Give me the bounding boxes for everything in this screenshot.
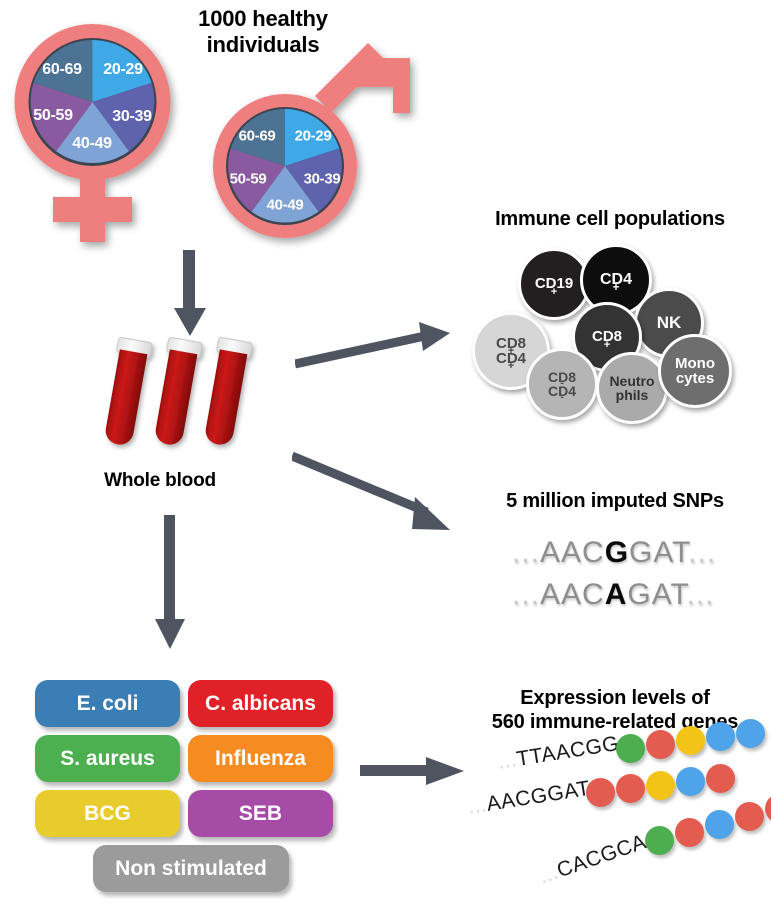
immune-cell-label-line-2: phils — [616, 388, 649, 402]
immune-cell-label-line-1: CD8- — [548, 370, 576, 384]
snp-title: 5 million imputed SNPs — [470, 490, 760, 514]
gene-bead — [645, 826, 674, 855]
stimulus-box-c-albicans[interactable]: C. albicans — [188, 680, 333, 727]
gene-bead — [586, 778, 615, 807]
snp-prefix: ... — [512, 578, 540, 611]
immune-cell-label-line-1: Neutro — [609, 374, 654, 388]
stimulus-box-bcg[interactable]: BCG — [35, 790, 180, 837]
immune-cell-label-line-2: CD4- — [548, 384, 576, 398]
gene-bead — [735, 802, 764, 831]
immune-cell-label: NK — [657, 314, 682, 331]
stimulus-label: C. albicans — [205, 692, 316, 716]
snp-left: AAC — [540, 536, 605, 569]
arrow-blood-to-immune-cells — [295, 320, 460, 380]
gene-bead — [706, 722, 735, 751]
immune-cell-cluster: CD8+ CD4+ CD19+ CD4+ NK CD8+ CD8- CD4- N… — [460, 240, 760, 420]
gene-bead — [616, 774, 645, 803]
immune-cell-label-line-2: cytes — [676, 371, 714, 386]
snp-suffix: ... — [687, 578, 715, 611]
stimulus-box-non-stimulated[interactable]: Non stimulated — [93, 845, 289, 892]
stimulus-box-e-coli[interactable]: E. coli — [35, 680, 180, 727]
female-age-pie — [31, 40, 155, 163]
immune-cell-label: CD8+ — [592, 329, 622, 344]
snp-right: GAT — [627, 578, 686, 611]
gene-bead — [646, 771, 675, 800]
stimulus-label: E. coli — [77, 692, 139, 716]
female-gender-symbol: 20-29 30-39 40-49 50-59 60-69 — [8, 12, 198, 252]
stimulus-label: SEB — [239, 802, 282, 826]
gene-bead — [706, 764, 735, 793]
gene-bead — [736, 719, 765, 748]
figure-canvas: 1000 healthy individuals — [0, 0, 771, 922]
snp-variant-base: A — [605, 578, 628, 611]
gene-bead — [676, 726, 705, 755]
stimulus-label: Influenza — [215, 747, 306, 771]
immune-cell-cd19p: CD19+ — [518, 248, 590, 320]
immune-cell-monocytes: Mono cytes — [658, 334, 732, 408]
immune-cell-label: CD19+ — [535, 276, 573, 291]
immune-cell-label-line-1: CD8+ — [496, 336, 526, 351]
snp-variant-base: G — [605, 536, 629, 569]
immune-cell-label: CD4+ — [600, 272, 632, 288]
arrow-blood-to-snps — [292, 450, 467, 545]
blood-tubes-icon — [95, 335, 275, 455]
snp-sequence-row-1: ...AACGGAT... — [512, 536, 716, 570]
immune-cell-populations-title: Immune cell populations — [455, 208, 765, 232]
whole-blood-label: Whole blood — [60, 470, 260, 492]
gene-bead — [646, 730, 675, 759]
gene-strand-3: ...CACGCAA — [540, 870, 771, 922]
immune-cell-label-line-2: CD4+ — [496, 351, 526, 366]
immune-cell-label-line-1: Mono — [675, 356, 715, 371]
gene-strand-bases: TTAACGG — [515, 732, 621, 771]
immune-cell-neutrophils: Neutro phils — [596, 352, 668, 424]
arrow-stimuli-to-expression — [360, 752, 470, 792]
stimulus-box-influenza[interactable]: Influenza — [188, 735, 333, 782]
arrow-cohort-to-blood — [160, 250, 220, 340]
gene-bead — [616, 734, 645, 763]
snp-sequence-row-2: ...AACAGAT... — [512, 578, 715, 612]
snp-prefix: ... — [512, 536, 540, 569]
gene-bead — [676, 767, 705, 796]
arrow-blood-to-stimuli — [142, 515, 202, 655]
gene-bead — [675, 818, 704, 847]
male-gender-symbol: 20-29 30-39 40-49 50-59 60-69 — [207, 48, 422, 253]
stimulus-label: Non stimulated — [115, 857, 267, 881]
stimulus-box-s-aureus[interactable]: S. aureus — [35, 735, 180, 782]
snp-right: GAT — [629, 536, 688, 569]
immune-cell-cd8n-cd4n: CD8- CD4- — [526, 348, 598, 420]
stimulus-label: S. aureus — [60, 747, 155, 771]
gene-strand-sequence: ...TTAACGG — [496, 732, 621, 775]
snp-left: AAC — [540, 578, 605, 611]
gene-bead — [705, 810, 734, 839]
stimulus-label: BCG — [84, 802, 131, 826]
male-age-pie — [228, 109, 342, 222]
stimulus-box-seb[interactable]: SEB — [188, 790, 333, 837]
snp-suffix: ... — [688, 536, 716, 569]
